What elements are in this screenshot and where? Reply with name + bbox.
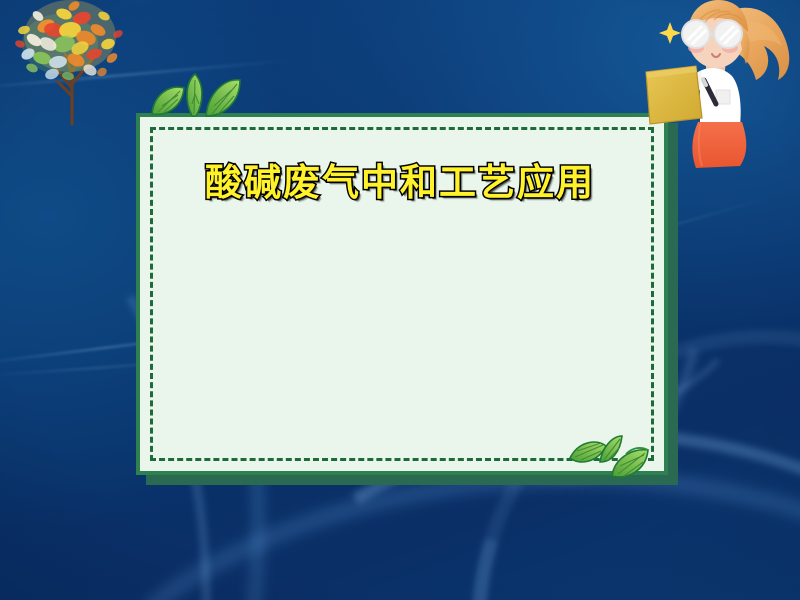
content-box	[136, 113, 668, 475]
content-box-dashed-border	[150, 127, 654, 461]
presentation-slide: 酸碱废气中和工艺应用	[0, 0, 800, 600]
